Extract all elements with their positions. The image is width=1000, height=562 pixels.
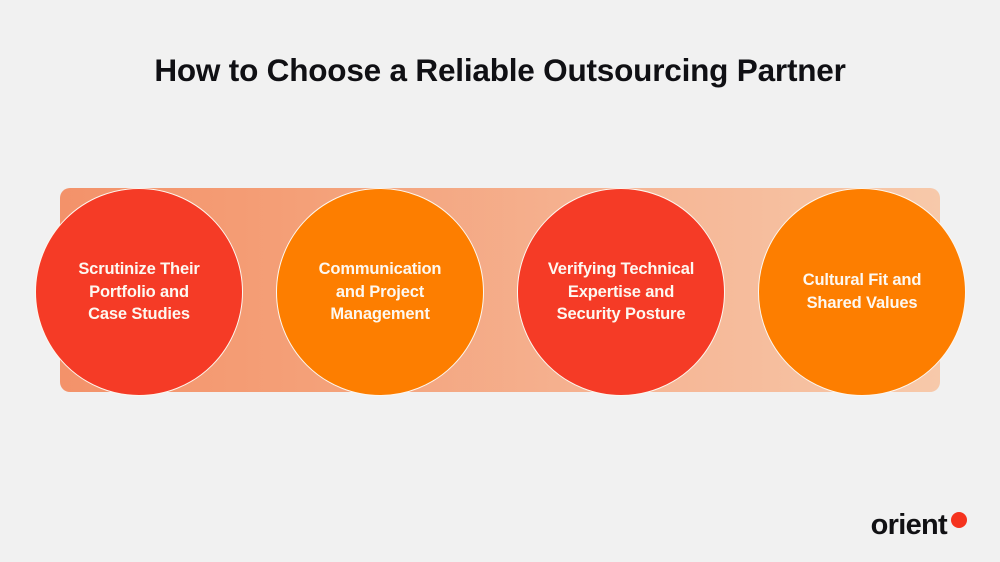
circle-step-4-label: Cultural Fit and Shared Values bbox=[789, 269, 936, 315]
circle-dot-icon bbox=[951, 512, 967, 528]
circle-step-2[interactable]: Communication and Project Management bbox=[276, 188, 484, 396]
circle-step-3-label: Verifying Technical Expertise and Securi… bbox=[534, 258, 708, 326]
circle-step-4[interactable]: Cultural Fit and Shared Values bbox=[758, 188, 966, 396]
orient-logo: orient bbox=[871, 511, 967, 540]
infographic-canvas: How to Choose a Reliable Outsourcing Par… bbox=[0, 0, 1000, 562]
circle-step-1[interactable]: Scrutinize Their Portfolio and Case Stud… bbox=[35, 188, 243, 396]
circle-row: Scrutinize Their Portfolio and Case Stud… bbox=[0, 0, 1000, 562]
circle-step-2-label: Communication and Project Management bbox=[305, 258, 456, 326]
logo-wordmark: orient bbox=[871, 511, 947, 540]
circle-step-3[interactable]: Verifying Technical Expertise and Securi… bbox=[517, 188, 725, 396]
circle-step-1-label: Scrutinize Their Portfolio and Case Stud… bbox=[64, 258, 213, 326]
